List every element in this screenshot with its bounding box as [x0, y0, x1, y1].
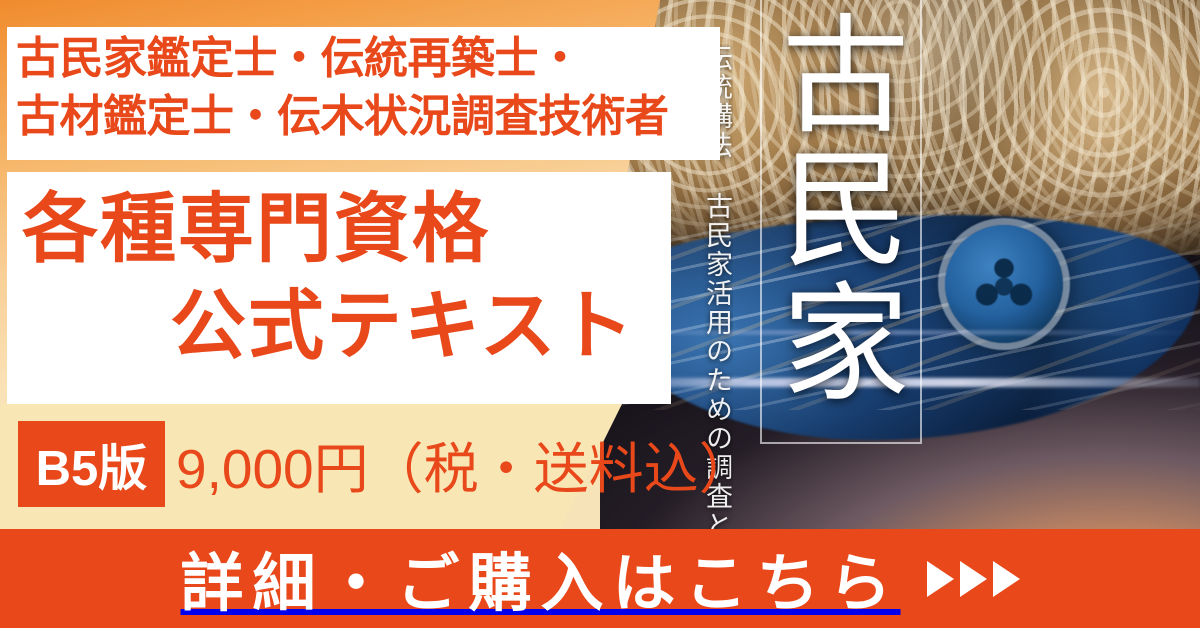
book-cover-title: 古民家 [776, 8, 904, 410]
triangle-right-icon [960, 561, 987, 597]
triangle-right-icon [927, 561, 954, 597]
price-text: 9,000円（税・送料込） [176, 428, 754, 500]
size-badge: B5版 [18, 421, 165, 507]
page-title: 各種専門資格 公式テキスト [0, 182, 671, 375]
headline-line-1: 古民家鑑定士・伝統再築士・ [16, 30, 716, 88]
family-crest-medallion-icon [945, 225, 1063, 343]
cta-button[interactable]: 詳細・ご購入はこちら [0, 529, 1200, 628]
cta-label: 詳細・ご購入はこちら [181, 533, 901, 624]
main-title-line-1: 各種専門資格 [0, 182, 671, 279]
headline: 古民家鑑定士・伝統再築士・ 古材鑑定士・伝木状況調査技術者 [16, 30, 716, 145]
triangle-right-icon [993, 561, 1020, 597]
headline-line-2: 古材鑑定士・伝木状況調査技術者 [16, 88, 716, 146]
main-title-line-2: 公式テキスト [0, 279, 671, 376]
promo-banner: 伝統構法 古民家活用のための調査と再生の 古民家 古民家鑑定士・伝統再築士・ 古… [0, 0, 1200, 628]
cta-arrows [927, 561, 1020, 597]
